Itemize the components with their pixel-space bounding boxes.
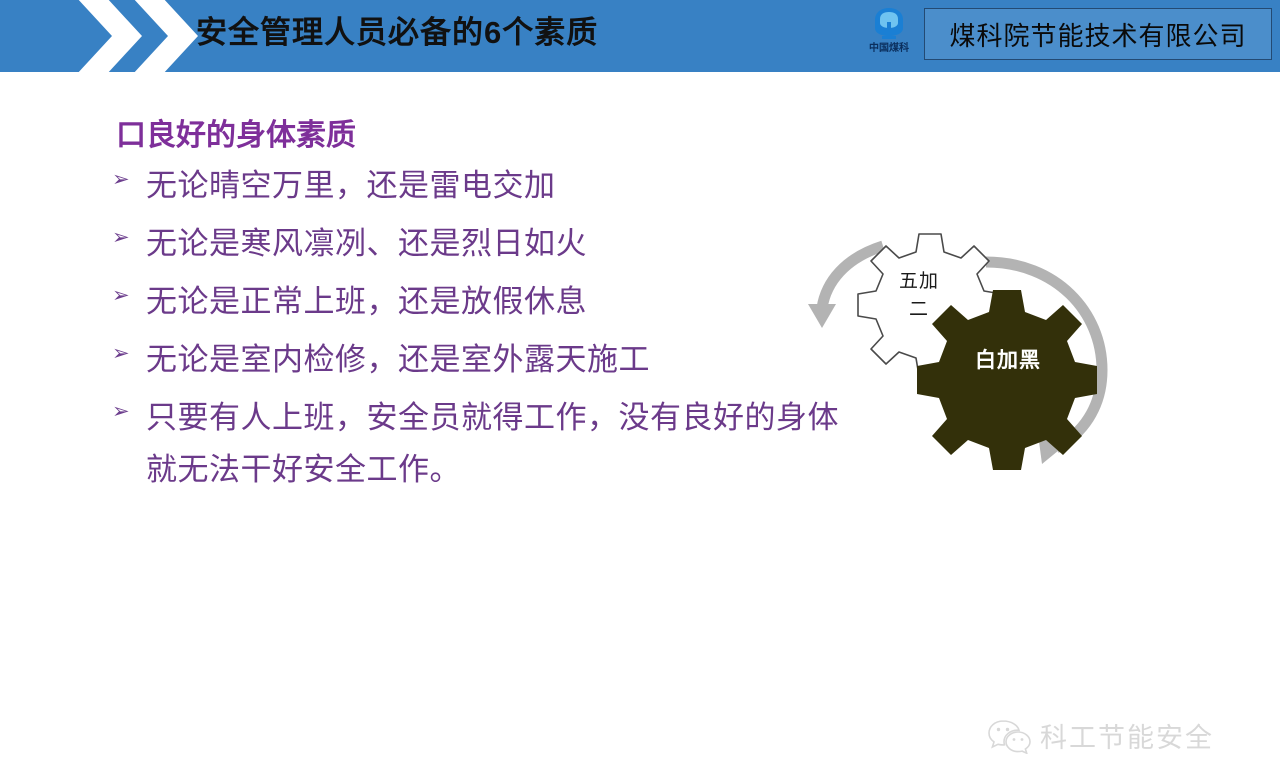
list-item: ➢ 只要有人上班，安全员就得工作，没有良好的身体 就无法干好安全工作。 — [112, 392, 892, 496]
two-gears-diagram: 五加 二 白加黑 — [790, 220, 1140, 480]
list-item-text: 无论是室内检修，还是室外露天施工 — [146, 334, 892, 386]
list-item-text-line1: 只要有人上班，安全员就得工作，没有良好的身体 — [146, 400, 839, 435]
list-item-text-line2: 就无法干好安全工作。 — [146, 452, 461, 487]
arrow-bullet-icon: ➢ — [112, 160, 146, 190]
company-name: 煤科院节能技术有限公司 — [949, 16, 1246, 53]
company-logo: 中国煤科 — [856, 6, 922, 68]
list-item-text: 无论是寒风凛冽、还是烈日如火 — [146, 218, 892, 270]
list-item: ➢ 无论晴空万里，还是雷电交加 — [112, 160, 892, 212]
list-item: ➢ 无论是寒风凛冽、还是烈日如火 — [112, 218, 892, 270]
section-heading: 口良好的身体素质 — [116, 110, 356, 154]
page-title: 安全管理人员必备的6个素质 — [196, 11, 598, 55]
arrow-bullet-icon: ➢ — [112, 276, 146, 306]
watermark-text: 科工节能安全 — [1040, 716, 1214, 755]
arrow-bullet-icon: ➢ — [112, 392, 146, 422]
wechat-icon — [988, 718, 1032, 754]
logo-caption: 中国煤科 — [856, 43, 922, 55]
china-coal-emblem-icon — [869, 6, 909, 42]
double-chevron-right-icon — [58, 0, 198, 72]
slide-header-band: 安全管理人员必备的6个素质 中国煤科 煤科院节能技术有限公司 — [0, 0, 1280, 72]
arrow-bullet-icon: ➢ — [112, 218, 146, 248]
dark-gear — [917, 290, 1097, 470]
bullet-list: ➢ 无论晴空万里，还是雷电交加 ➢ 无论是寒风凛冽、还是烈日如火 ➢ 无论是正常… — [112, 160, 892, 502]
heading-box-glyph: 口 — [116, 118, 146, 153]
heading-text: 良好的身体素质 — [146, 119, 356, 152]
slide-body: 口良好的身体素质 ➢ 无论晴空万里，还是雷电交加 ➢ 无论是寒风凛冽、还是烈日如… — [0, 72, 1280, 720]
company-name-box: 煤科院节能技术有限公司 — [924, 8, 1272, 60]
arrow-bullet-icon: ➢ — [112, 334, 146, 364]
list-item-text: 无论是正常上班，还是放假休息 — [146, 276, 892, 328]
list-item-text: 只要有人上班，安全员就得工作，没有良好的身体 就无法干好安全工作。 — [146, 392, 892, 496]
watermark: 科工节能安全 — [988, 716, 1214, 755]
list-item-text: 无论晴空万里，还是雷电交加 — [146, 160, 892, 212]
list-item: ➢ 无论是正常上班，还是放假休息 — [112, 276, 892, 328]
list-item: ➢ 无论是室内检修，还是室外露天施工 — [112, 334, 892, 386]
